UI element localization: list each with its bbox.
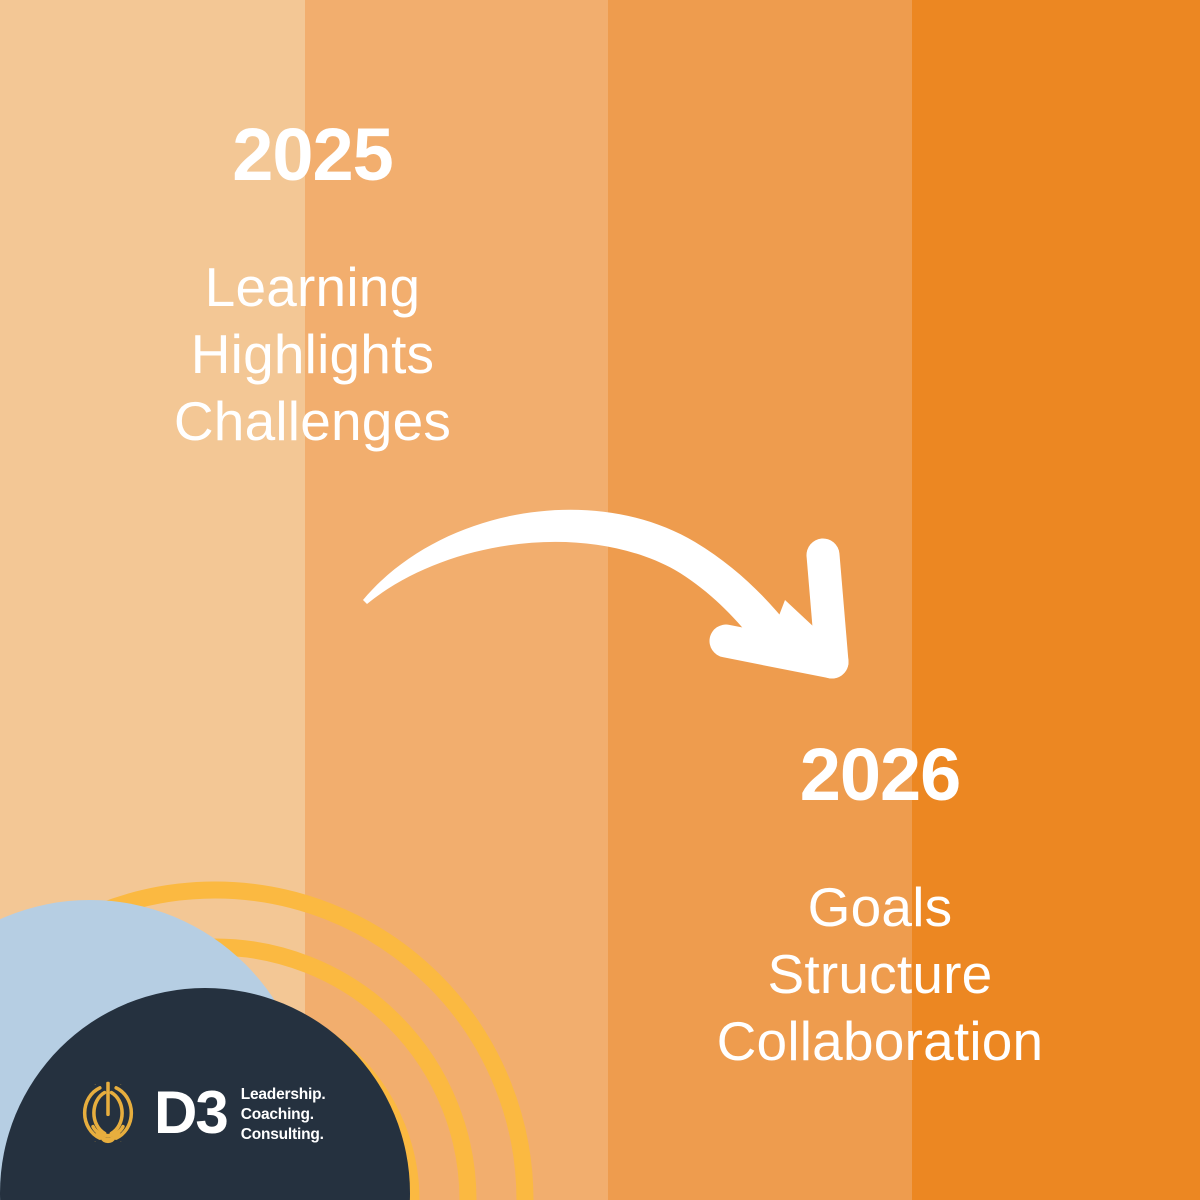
year-label-2026: 2026 — [635, 738, 1125, 812]
year-block-2025: 2025 Learning Highlights Challenges — [70, 118, 555, 455]
topic-list-2025: Learning Highlights Challenges — [70, 254, 555, 455]
year-block-2026: 2026 Goals Structure Collaboration — [635, 738, 1125, 1075]
topic-item: Structure — [635, 941, 1125, 1008]
d3-logo[interactable]: D3 Leadership. Coaching. Consulting. — [74, 1079, 326, 1147]
year-label-2025: 2025 — [70, 118, 555, 192]
topic-item: Highlights — [70, 321, 555, 388]
tagline-line-2: Coaching. — [241, 1105, 326, 1125]
curved-arrow-icon — [345, 480, 865, 710]
topic-item: Collaboration — [635, 1008, 1125, 1075]
d3-fingerprint-mark-icon — [74, 1079, 142, 1147]
tagline-line-3: Consulting. — [241, 1125, 326, 1145]
d3-wordmark: D3 — [154, 1088, 227, 1137]
slide-canvas: D3 Leadership. Coaching. Consulting. 202… — [0, 0, 1200, 1200]
topic-item: Learning — [70, 254, 555, 321]
topic-item: Goals — [635, 874, 1125, 941]
d3-tagline: Leadership. Coaching. Consulting. — [241, 1081, 326, 1145]
tagline-line-1: Leadership. — [241, 1085, 326, 1105]
topic-item: Challenges — [70, 388, 555, 455]
topic-list-2026: Goals Structure Collaboration — [635, 874, 1125, 1075]
